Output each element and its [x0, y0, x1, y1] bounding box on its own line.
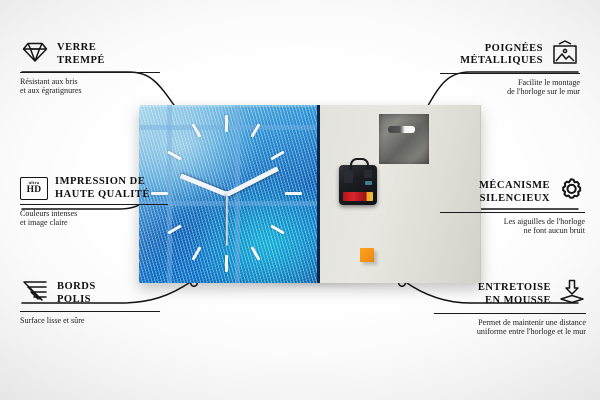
- gear-icon: [557, 176, 585, 209]
- feature-description: Résistant aux bris et aux égratignures: [20, 77, 160, 96]
- movement-detail: [365, 181, 372, 185]
- feature-impression-haute-qualite: ultra HD IMPRESSION DE HAUTE QUALITÉ Cou…: [20, 176, 168, 228]
- ultra-hd-icon: ultra HD: [20, 177, 48, 200]
- title-rule: [434, 313, 586, 314]
- movement-detail: [364, 170, 372, 178]
- quartz-movement-box: [339, 165, 377, 205]
- feature-mecanisme-silencieux: MÉCANISME SILENCIEUX Les aiguilles de l'…: [440, 176, 585, 236]
- feature-description: Permet de maintenir une distance uniform…: [434, 318, 586, 337]
- infographic-canvas: VERRE TREMPÉ Résistant aux bris et aux é…: [0, 0, 600, 400]
- title-rule: [440, 212, 585, 213]
- polished-edge-icon: [20, 279, 50, 308]
- hour-tick: [285, 192, 302, 195]
- clock-center-pin: [225, 191, 229, 195]
- feature-title: IMPRESSION DE HAUTE QUALITÉ: [55, 176, 150, 201]
- metal-hanger-plate: [379, 114, 429, 164]
- pattern-grid-line: [139, 125, 317, 130]
- diamond-icon: [20, 40, 50, 69]
- feature-entretoise-en-mousse: ENTRETOISE EN MOUSSE Permet de maintenir…: [434, 279, 586, 337]
- feature-title: ENTRETOISE EN MOUSSE: [478, 282, 551, 307]
- hour-tick: [225, 255, 228, 272]
- battery: [343, 192, 373, 201]
- feature-description: Couleurs intenses et image claire: [20, 209, 168, 228]
- feature-poignees-metalliques: POIGNÉES MÉTALLIQUES Facilite le montage…: [440, 40, 580, 97]
- hour-tick: [225, 115, 228, 132]
- feature-title: VERRE TREMPÉ: [57, 42, 105, 67]
- feature-verre-trempe: VERRE TREMPÉ Résistant aux bris et aux é…: [20, 40, 160, 96]
- foam-spacer-icon: [558, 279, 586, 310]
- feature-title: MÉCANISME SILENCIEUX: [479, 180, 550, 205]
- feature-title: POIGNÉES MÉTALLIQUES: [460, 43, 543, 68]
- ultra-hd-large-text: HD: [27, 186, 42, 196]
- title-rule: [440, 73, 580, 74]
- title-rule: [20, 204, 168, 205]
- pattern-grid-line: [235, 105, 240, 283]
- product-photo: [139, 105, 480, 283]
- product-shadow: [150, 282, 480, 293]
- feature-description: Les aiguilles de l'horloge ne font aucun…: [440, 217, 585, 236]
- foam-spacer-pad: [360, 248, 374, 262]
- movement-detail: [344, 171, 353, 183]
- feature-description: Surface lisse et sûre: [20, 316, 160, 326]
- feature-bords-polis: BORDS POLIS Surface lisse et sûre: [20, 279, 160, 325]
- hanger-slot: [388, 126, 415, 133]
- feature-title: BORDS POLIS: [57, 281, 96, 306]
- title-rule: [20, 72, 160, 73]
- feature-description: Facilite le montage de l'horloge sur le …: [440, 78, 580, 97]
- picture-hanger-icon: [550, 40, 580, 70]
- hanger-loop: [350, 158, 369, 170]
- second-hand: [226, 194, 228, 246]
- title-rule: [20, 311, 160, 312]
